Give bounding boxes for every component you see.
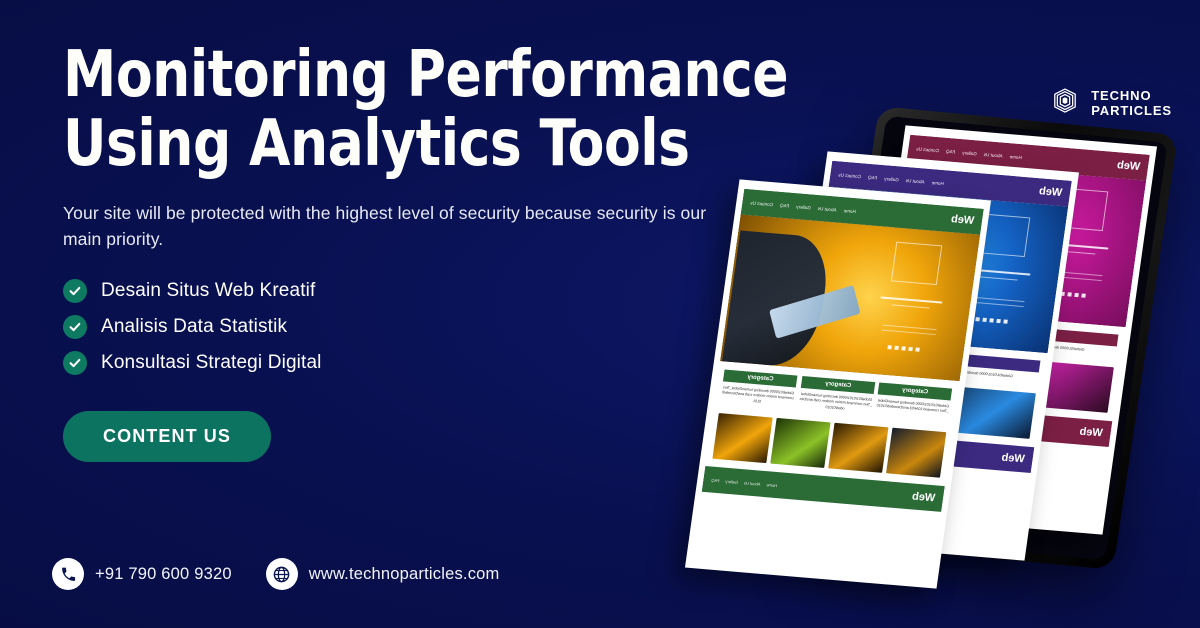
nav-link: Home xyxy=(843,208,856,214)
list-item-label: Analisis Data Statistik xyxy=(101,316,287,338)
nav-link: Gallery xyxy=(884,176,899,182)
nav-link: Gallery xyxy=(796,204,811,210)
mockup-logo: Web xyxy=(950,213,975,227)
phone-icon xyxy=(52,558,84,590)
mockup-nav-links: Home About Us Gallery FAQ Contact Us xyxy=(750,200,856,214)
footer-link: About Us xyxy=(744,480,761,486)
nav-link: Contact Us xyxy=(916,146,939,153)
thumbnail xyxy=(770,418,830,468)
mockup-nav-links: Home About Us Gallery FAQ Contact Us xyxy=(838,172,944,186)
list-item-label: Desain Situs Web Kreatif xyxy=(101,280,315,302)
list-item-label: Konsultasi Strategi Digital xyxy=(101,352,322,374)
check-icon xyxy=(63,351,87,375)
nav-link: Home xyxy=(931,180,944,186)
brand-logo[interactable]: TECHNO PARTICLES xyxy=(1048,84,1172,123)
feature-list: Desain Situs Web Kreatif Analisis Data S… xyxy=(63,279,753,375)
page-title: Monitoring Performance Using Analytics T… xyxy=(63,44,705,175)
mockup-logo: Web xyxy=(1038,185,1063,199)
hero-ui-overlay xyxy=(864,240,973,367)
subtitle: Your site will be protected with the hig… xyxy=(63,201,723,252)
mockup-card: Category Global/01/0101/0000 decoding hu… xyxy=(797,376,875,418)
mockup-nav-links: Home About Us Gallery FAQ Contact Us xyxy=(916,146,1022,160)
headline-line-2: Using Analytics Tools xyxy=(63,113,705,176)
nav-link: Contact Us xyxy=(750,200,773,207)
promo-banner: Monitoring Performance Using Analytics T… xyxy=(0,0,1200,628)
copy-block: Monitoring Performance Using Analytics T… xyxy=(63,44,753,462)
mockup-card: Category Global/01/0101/0000 decoding hu… xyxy=(875,383,953,425)
nav-link: About Us xyxy=(817,205,837,212)
nav-link: About Us xyxy=(905,177,925,184)
logo-line-1: TECHNO xyxy=(1091,88,1151,103)
mockup-footer-links: Home About Us Gallery FAQ xyxy=(711,477,777,487)
list-item: Desain Situs Web Kreatif xyxy=(63,279,753,303)
footer-link: Home xyxy=(766,482,777,488)
mockup-footer-logo: Web xyxy=(1001,452,1026,466)
card-text: Global/01/0101/0000 decoding humanGlobal… xyxy=(876,398,950,415)
nav-link: Home xyxy=(1009,154,1022,160)
phone-number: +91 790 600 9320 xyxy=(95,565,232,584)
check-icon xyxy=(63,279,87,303)
logo-text: TECHNO PARTICLES xyxy=(1091,89,1172,118)
nav-link: Contact Us xyxy=(838,172,861,179)
website-url: www.technoparticles.com xyxy=(309,565,500,584)
cube-layers-icon xyxy=(1048,84,1082,123)
check-icon xyxy=(63,315,87,339)
thumbnail xyxy=(886,428,946,478)
contact-us-button[interactable]: CONTENT US xyxy=(63,411,271,462)
contact-bar: +91 790 600 9320 www.technoparticles.com xyxy=(52,558,499,590)
mockup-footer-logo: Web xyxy=(1079,426,1104,440)
nav-link: FAQ xyxy=(780,202,790,208)
nav-link: FAQ xyxy=(868,174,878,180)
nav-link: FAQ xyxy=(946,148,956,154)
nav-link: Gallery xyxy=(962,150,977,156)
card-text: Global/01/0101/0000 decoding humanGlobal… xyxy=(798,392,873,414)
website-contact[interactable]: www.technoparticles.com xyxy=(266,558,500,590)
thumbnail xyxy=(828,423,888,473)
globe-icon xyxy=(266,558,298,590)
mockup-hero xyxy=(720,215,980,382)
phone-contact[interactable]: +91 790 600 9320 xyxy=(52,558,232,590)
list-item: Analisis Data Statistik xyxy=(63,315,753,339)
footer-link: FAQ xyxy=(711,477,720,483)
mockup-footer-logo: Web xyxy=(911,491,936,505)
list-item: Konsultasi Strategi Digital xyxy=(63,351,753,375)
mockup-logo: Web xyxy=(1116,159,1141,173)
nav-link: About Us xyxy=(983,151,1003,158)
footer-link: Gallery xyxy=(725,478,738,484)
logo-line-2: PARTICLES xyxy=(1091,103,1172,118)
headline-line-1: Monitoring Performance xyxy=(63,38,788,112)
